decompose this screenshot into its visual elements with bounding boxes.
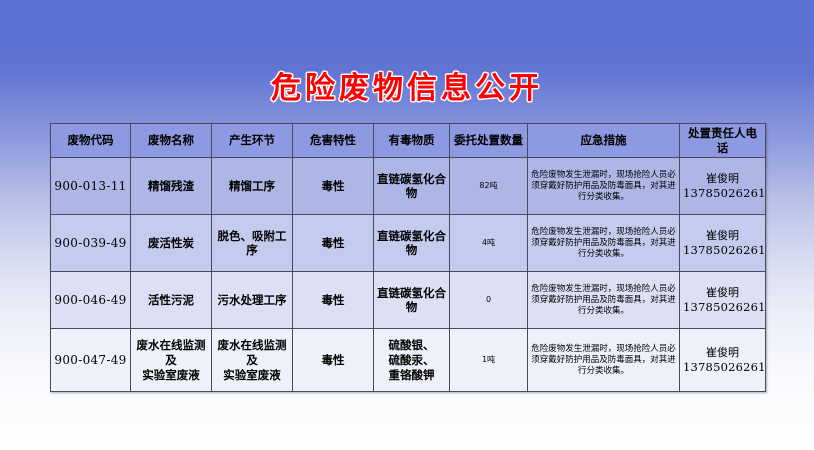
hazardous-waste-table: 废物代码 废物名称 产生环节 危害特性 有毒物质 委托处置数量 应急措施 处置责… [50,123,766,392]
cell-disposal-quantity: 4吨 [450,215,528,272]
cell-responsible-person: 崔俊明 13785026261 [680,272,766,329]
column-header-toxic-substance: 有毒物质 [374,124,450,158]
cell-disposal-quantity: 82吨 [450,158,528,215]
generation-stage-line-1: 废水在线监测及 [215,338,289,367]
cell-toxic-substance: 直链碳氢化合物 [374,215,450,272]
cell-responsible-person: 崔俊明 13785026261 [680,215,766,272]
table-header-row: 废物代码 废物名称 产生环节 危害特性 有毒物质 委托处置数量 应急措施 处置责… [51,124,766,158]
cell-disposal-quantity: 1吨 [450,329,528,392]
cell-generation-stage: 废水在线监测及 实验室废液 [212,329,293,392]
responsible-person-name: 崔俊明 [683,229,762,243]
cell-waste-name: 精馏残渣 [131,158,212,215]
cell-generation-stage: 脱色、吸附工序 [212,215,293,272]
cell-toxic-substance: 直链碳氢化合物 [374,272,450,329]
cell-waste-code: 900-047-49 [51,329,131,392]
column-header-waste-code: 废物代码 [51,124,131,158]
waste-name-line-1: 废水在线监测及 [134,338,208,367]
column-header-generation-stage: 产生环节 [212,124,293,158]
table-row: 900-047-49 废水在线监测及 实验室废液 废水在线监测及 实验室废液 毒… [51,329,766,392]
cell-hazard-property: 毒性 [293,329,374,392]
cell-waste-code: 900-046-49 [51,272,131,329]
cell-waste-code: 900-039-49 [51,215,131,272]
generation-stage-line-2: 实验室废液 [215,368,289,383]
cell-toxic-substance: 硫酸银、 硫酸汞、 重铬酸钾 [374,329,450,392]
responsible-person-phone: 13785026261 [683,243,762,258]
cell-disposal-quantity: 0 [450,272,528,329]
cell-generation-stage: 精馏工序 [212,158,293,215]
responsible-person-name: 崔俊明 [683,286,762,300]
cell-waste-code: 900-013-11 [51,158,131,215]
toxic-substance-line-3: 重铬酸钾 [377,368,446,383]
column-header-emergency-measures: 应急措施 [528,124,680,158]
cell-responsible-person: 崔俊明 13785026261 [680,329,766,392]
toxic-substance-line-1: 硫酸银、 [377,338,446,353]
page-title: 危险废物信息公开 [0,63,814,107]
cell-emergency-measures: 危险废物发生泄漏时，现场抢险人员必须穿戴好防护用品及防毒面具，对其进行分类收集。 [528,215,680,272]
responsible-person-phone: 13785026261 [683,186,762,201]
table-row: 900-013-11 精馏残渣 精馏工序 毒性 直链碳氢化合物 82吨 危险废物… [51,158,766,215]
cell-hazard-property: 毒性 [293,215,374,272]
table-row: 900-046-49 活性污泥 污水处理工序 毒性 直链碳氢化合物 0 危险废物… [51,272,766,329]
cell-toxic-substance: 直链碳氢化合物 [374,158,450,215]
cell-waste-name: 废水在线监测及 实验室废液 [131,329,212,392]
table-row: 900-039-49 废活性炭 脱色、吸附工序 毒性 直链碳氢化合物 4吨 危险… [51,215,766,272]
cell-hazard-property: 毒性 [293,272,374,329]
cell-hazard-property: 毒性 [293,158,374,215]
responsible-person-name: 崔俊明 [683,172,762,186]
waste-name-line-2: 实验室废液 [134,368,208,383]
hazardous-waste-table-container: 废物代码 废物名称 产生环节 危害特性 有毒物质 委托处置数量 应急措施 处置责… [50,123,765,392]
cell-waste-name: 活性污泥 [131,272,212,329]
column-header-hazard-property: 危害特性 [293,124,374,158]
responsible-person-phone: 13785026261 [683,360,762,375]
column-header-disposal-quantity: 委托处置数量 [450,124,528,158]
cell-waste-name: 废活性炭 [131,215,212,272]
cell-emergency-measures: 危险废物发生泄漏时，现场抢险人员必须穿戴好防护用品及防毒面具，对其进行分类收集。 [528,329,680,392]
responsible-person-name: 崔俊明 [683,346,762,360]
column-header-responsible-person-phone: 处置责任人电话 [680,124,766,158]
column-header-waste-name: 废物名称 [131,124,212,158]
toxic-substance-line-2: 硫酸汞、 [377,353,446,368]
slide-canvas: 危险废物信息公开 废物代码 废物名称 产生环节 危害特性 有毒物质 [0,0,814,450]
cell-generation-stage: 污水处理工序 [212,272,293,329]
cell-responsible-person: 崔俊明 13785026261 [680,158,766,215]
responsible-person-phone: 13785026261 [683,300,762,315]
cell-emergency-measures: 危险废物发生泄漏时，现场抢险人员必须穿戴好防护用品及防毒面具，对其进行分类收集。 [528,272,680,329]
cell-emergency-measures: 危险废物发生泄漏时，现场抢险人员必须穿戴好防护用品及防毒面具，对其进行分类收集。 [528,158,680,215]
